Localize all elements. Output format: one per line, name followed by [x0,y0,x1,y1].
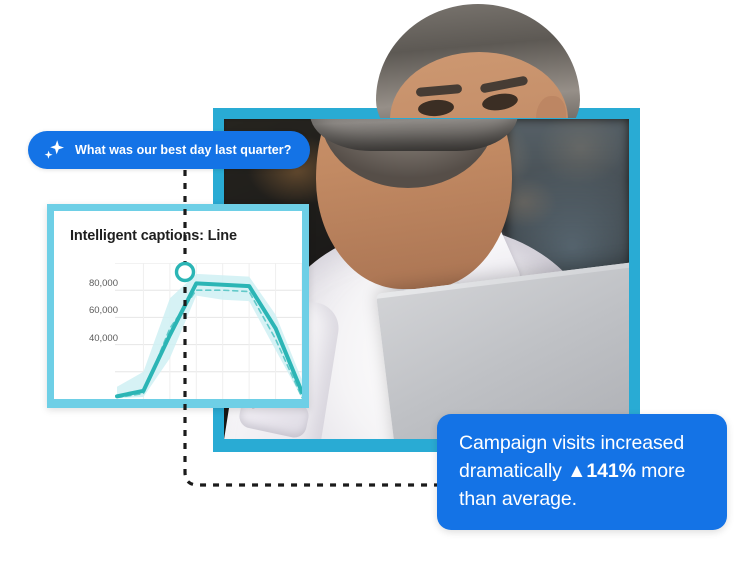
chart-title: Intelligent captions: Line [70,228,237,244]
caption-line-2-prefix: dramatically [459,460,567,482]
person-head-overlay [368,0,593,118]
ai-prompt-text: What was our best day last quarter? [75,143,291,157]
insight-caption-card: Campaign visits increased dramatically ▲… [437,414,727,530]
insight-caption-text: Campaign visits increased dramatically ▲… [459,429,707,513]
promo-composition: Intelligent captions: Line 80,000 60,000… [0,0,750,563]
person-eyebrow-right-top [480,76,529,94]
chart-card[interactable]: Intelligent captions: Line 80,000 60,000… [47,204,309,408]
chart-card-body: Intelligent captions: Line 80,000 60,000… [54,211,302,399]
chart-plot-area [54,263,302,399]
person-hair-top [376,4,580,118]
caption-trend-arrow-icon: ▲ [567,460,586,482]
ai-prompt-pill[interactable]: What was our best day last quarter? [28,131,310,169]
caption-line-3: than average. [459,488,577,510]
caption-metric: 141% [586,460,635,482]
caption-line-2-suffix: more [636,460,685,482]
caption-line-1: Campaign visits increased [459,432,684,454]
person-eyebrow-left-top [416,84,463,97]
sparkle-icon [42,138,66,162]
